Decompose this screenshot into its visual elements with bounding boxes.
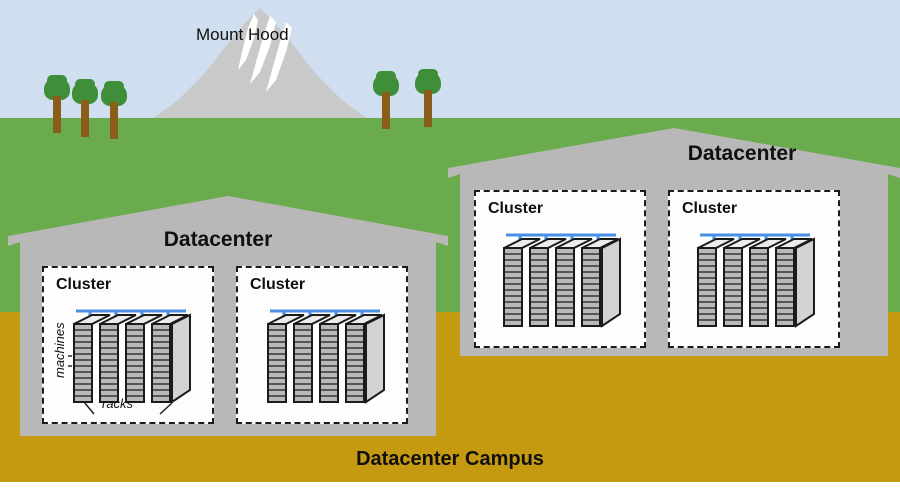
- cluster-box[interactable]: Cluster: [42, 266, 214, 424]
- rack-group[interactable]: [68, 304, 200, 420]
- rack-group[interactable]: [692, 228, 822, 340]
- cluster-title: Cluster: [488, 200, 543, 218]
- tree-trunk: [424, 90, 432, 127]
- cluster-box[interactable]: Cluster: [668, 190, 840, 348]
- cluster-title: Cluster: [56, 276, 111, 294]
- racks-annotation: racks: [102, 396, 133, 411]
- tree-trunk: [382, 92, 390, 129]
- datacenter-building-back: Datacenter Cluster: [448, 128, 900, 356]
- tree-trunk: [81, 100, 89, 137]
- tree-trunk: [110, 102, 118, 139]
- campus-caption: Datacenter Campus: [0, 448, 900, 471]
- rack-group[interactable]: [498, 228, 628, 340]
- tree-trunk: [53, 96, 61, 133]
- rack-group[interactable]: [262, 304, 394, 420]
- datacenter-campus-diagram: Mount Hood Datacenter Cluster: [0, 0, 900, 488]
- datacenter-building-front: Datacenter Cluster: [8, 196, 448, 436]
- mount-hood-label: Mount Hood: [196, 25, 289, 45]
- datacenter-title: Datacenter: [8, 228, 428, 252]
- bottom-white-strip: [0, 482, 900, 488]
- cluster-title: Cluster: [682, 200, 737, 218]
- datacenter-title: Datacenter: [528, 142, 900, 166]
- cluster-box[interactable]: Cluster: [236, 266, 408, 424]
- machines-annotation: machines: [52, 322, 67, 378]
- cluster-title: Cluster: [250, 276, 305, 294]
- cluster-box[interactable]: Cluster: [474, 190, 646, 348]
